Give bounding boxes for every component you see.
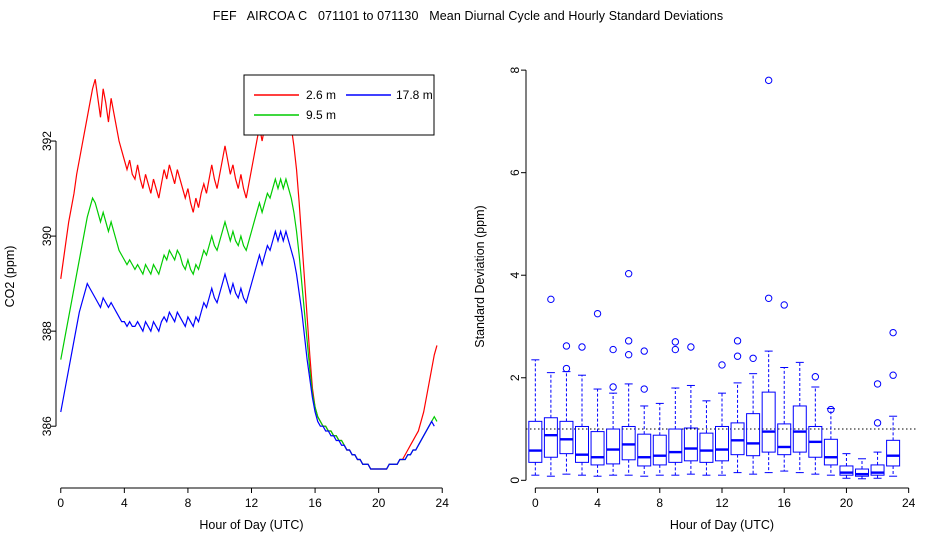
box <box>607 429 620 464</box>
boxplot-hour-13 <box>731 338 744 473</box>
y-tick-label: 0 <box>508 477 522 484</box>
outlier-point-1 <box>672 346 678 352</box>
box <box>544 418 557 457</box>
legend-label-1: 9.5 m <box>306 108 336 122</box>
x-tick-label: 0 <box>532 496 539 510</box>
boxplot-hour-16 <box>778 302 791 471</box>
x-tick-label: 8 <box>185 496 192 510</box>
boxplot-hour-2 <box>560 343 573 474</box>
box <box>778 424 791 455</box>
outlier-point-0 <box>579 344 585 350</box>
box <box>638 434 651 466</box>
box <box>591 432 604 465</box>
box <box>762 392 775 452</box>
box <box>824 439 837 465</box>
outlier-point-0 <box>734 338 740 344</box>
outlier-point-1 <box>890 372 896 378</box>
right-plot-svg: 0481216202402468Hour of Day (UTC)Standar… <box>468 0 936 540</box>
outlier-point-0 <box>765 77 771 83</box>
x-tick-label: 24 <box>902 496 916 510</box>
y-tick-label: 390 <box>40 226 54 246</box>
boxplot-hour-12 <box>716 362 729 475</box>
box <box>731 423 744 455</box>
boxplot-hour-15 <box>762 77 775 472</box>
outlier-point-0 <box>610 346 616 352</box>
boxplot-hour-4 <box>591 310 604 476</box>
outlier-point-0 <box>781 302 787 308</box>
outlier-point-0 <box>688 344 694 350</box>
box <box>747 414 760 456</box>
boxplot-hour-9 <box>669 339 682 476</box>
figure-root: FEF AIRCOA C 071101 to 071130 Mean Diurn… <box>0 0 936 540</box>
outlier-point-0 <box>563 343 569 349</box>
x-tick-label: 20 <box>840 496 854 510</box>
outlier-point-0 <box>812 374 818 380</box>
legend-box <box>244 75 434 135</box>
box <box>716 426 729 460</box>
x-tick-label: 8 <box>656 496 663 510</box>
outlier-point-1 <box>625 338 631 344</box>
x-tick-label: 4 <box>594 496 601 510</box>
y-tick-label: 388 <box>40 321 54 341</box>
outlier-point-0 <box>719 362 725 368</box>
y-tick-label: 386 <box>40 416 54 436</box>
boxplot-hour-8 <box>653 403 666 475</box>
x-axis-label: Hour of Day (UTC) <box>670 518 774 532</box>
x-tick-label: 16 <box>778 496 792 510</box>
x-axis-label: Hour of Day (UTC) <box>199 518 303 532</box>
box <box>622 426 635 459</box>
outlier-point-0 <box>641 348 647 354</box>
x-tick-label: 4 <box>121 496 128 510</box>
y-axis-label: Standard Deviation (ppm) <box>473 205 487 347</box>
boxplot-hour-5 <box>607 346 620 475</box>
boxplot-hour-19 <box>824 406 837 475</box>
outlier-point-1 <box>874 420 880 426</box>
x-tick-label: 16 <box>308 496 322 510</box>
x-tick-label: 20 <box>372 496 386 510</box>
outlier-point-0 <box>594 310 600 316</box>
box <box>669 429 682 462</box>
boxplot-hour-20 <box>840 454 853 479</box>
boxplot-hour-1 <box>544 296 557 476</box>
outlier-point-0 <box>548 296 554 302</box>
legend-label-0: 2.6 m <box>306 88 336 102</box>
y-axis-label: CO2 (ppm) <box>3 246 17 308</box>
left-panel-diurnal-cycle: 04812162024386388390392Hour of Day (UTC)… <box>0 0 468 540</box>
outlier-point-0 <box>672 339 678 345</box>
legend-label-2: 17.8 m <box>396 88 433 102</box>
boxplot-hour-7 <box>638 348 651 476</box>
boxplot-hour-14 <box>747 355 760 474</box>
boxplot-hour-0 <box>529 360 542 475</box>
boxplot-hour-17 <box>793 362 806 472</box>
y-tick-label: 6 <box>508 169 522 176</box>
x-tick-label: 0 <box>57 496 64 510</box>
outlier-point-0 <box>750 355 756 361</box>
box <box>684 428 697 461</box>
boxplot-hour-3 <box>576 344 589 475</box>
left-plot-svg: 04812162024386388390392Hour of Day (UTC)… <box>0 0 468 540</box>
outlier-point-0 <box>625 270 631 276</box>
y-tick-label: 2 <box>508 374 522 381</box>
series-line-2-6-m <box>61 79 437 469</box>
box <box>653 435 666 465</box>
outlier-point-1 <box>765 295 771 301</box>
outlier-point-1 <box>641 386 647 392</box>
boxplot-hour-6 <box>622 270 635 475</box>
box <box>529 421 542 462</box>
x-tick-label: 12 <box>715 496 729 510</box>
boxplot-hour-11 <box>700 401 713 475</box>
box <box>887 440 900 466</box>
y-tick-label: 392 <box>40 131 54 151</box>
outlier-point-1 <box>734 353 740 359</box>
boxplot-hour-10 <box>684 344 697 474</box>
y-tick-label: 4 <box>508 272 522 279</box>
boxplot-hour-23 <box>887 329 900 476</box>
outlier-point-2 <box>625 351 631 357</box>
box <box>560 421 573 453</box>
outlier-point-0 <box>874 381 880 387</box>
box <box>576 426 589 462</box>
right-panel-boxplot: 0481216202402468Hour of Day (UTC)Standar… <box>468 0 936 540</box>
series-line-9-5-m <box>61 179 437 469</box>
outlier-point-0 <box>890 329 896 335</box>
box <box>700 433 713 462</box>
boxplot-hour-21 <box>856 459 869 479</box>
y-tick-label: 8 <box>508 66 522 73</box>
series-line-17-8-m <box>61 231 435 469</box>
x-tick-label: 24 <box>436 496 450 510</box>
outlier-point-1 <box>563 365 569 371</box>
boxplot-hour-18 <box>809 374 822 475</box>
outlier-point-1 <box>610 384 616 390</box>
x-tick-label: 12 <box>245 496 259 510</box>
